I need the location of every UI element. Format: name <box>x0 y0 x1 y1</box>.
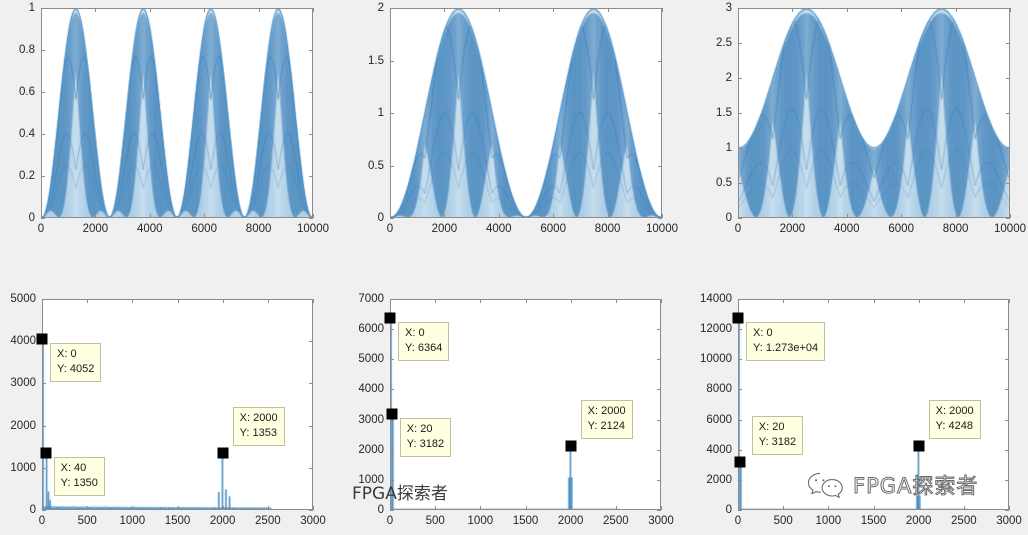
x-tick-label: 10000 <box>297 223 329 235</box>
datatip-box[interactable]: X: 20Y: 3182 <box>400 418 451 457</box>
y-tick-mark <box>390 480 394 481</box>
y-tick-mark <box>1005 480 1009 481</box>
y-tick-label: 0 <box>30 504 36 516</box>
x-tick-label: 4000 <box>486 223 512 235</box>
x-tick-mark <box>874 506 875 510</box>
y-tick-label: 3 <box>726 2 732 14</box>
y-tick-label: 1.5 <box>368 55 384 67</box>
datatip-box[interactable]: X: 0Y: 6364 <box>398 322 449 361</box>
x-tick-mark <box>313 299 314 303</box>
datatip-marker[interactable] <box>40 448 51 459</box>
x-tick-mark <box>204 8 205 12</box>
y-tick-mark <box>1005 420 1009 421</box>
x-tick-mark <box>526 506 527 510</box>
y-tick-mark <box>390 113 394 114</box>
x-tick-label: 2000 <box>558 515 584 527</box>
x-tick-mark <box>661 506 662 510</box>
y-tick-mark <box>41 92 45 93</box>
y-tick-label: 2.5 <box>716 37 732 49</box>
x-tick-mark <box>313 8 314 12</box>
x-tick-mark <box>901 214 902 218</box>
y-tick-mark <box>657 510 661 511</box>
y-tick-mark <box>738 113 742 114</box>
y-tick-mark <box>738 420 742 421</box>
y-tick-label: 2000 <box>10 420 36 432</box>
y-tick-mark <box>738 329 742 330</box>
y-tick-label: 0.5 <box>716 177 732 189</box>
x-tick-label: 1500 <box>861 515 887 527</box>
y-tick-mark <box>738 359 742 360</box>
datatip-y-value: Y: 3182 <box>407 437 444 452</box>
x-tick-mark <box>964 506 965 510</box>
x-tick-label: 1500 <box>513 515 539 527</box>
y-tick-mark <box>657 480 661 481</box>
x-tick-label: 1000 <box>120 515 146 527</box>
y-tick-mark <box>738 43 742 44</box>
x-tick-label: 2500 <box>603 515 629 527</box>
x-tick-mark <box>783 506 784 510</box>
datatip-y-value: Y: 4052 <box>57 362 94 377</box>
datatip-x-value: X: 20 <box>759 420 796 435</box>
y-tick-mark <box>390 420 394 421</box>
x-tick-mark <box>847 8 848 12</box>
y-tick-mark <box>738 510 742 511</box>
y-tick-mark <box>657 389 661 390</box>
x-tick-mark <box>792 214 793 218</box>
y-tick-mark <box>309 218 313 219</box>
x-tick-label: 2500 <box>255 515 281 527</box>
x-tick-label: 0 <box>387 223 393 235</box>
x-tick-label: 1000 <box>816 515 842 527</box>
x-tick-mark <box>738 214 739 218</box>
y-tick-label: 1000 <box>10 462 36 474</box>
y-tick-mark <box>41 134 45 135</box>
datatip-x-value: X: 40 <box>61 461 98 476</box>
waveform-canvas-top-middle <box>391 9 661 217</box>
x-tick-mark <box>919 506 920 510</box>
y-tick-mark <box>390 329 394 330</box>
y-tick-mark <box>41 176 45 177</box>
y-tick-mark <box>390 218 394 219</box>
x-tick-label: 6000 <box>191 223 217 235</box>
y-tick-mark <box>41 50 45 51</box>
x-tick-mark <box>847 214 848 218</box>
x-tick-label: 2000 <box>210 515 236 527</box>
datatip-marker[interactable] <box>734 457 745 468</box>
y-tick-mark <box>1006 183 1010 184</box>
x-tick-mark <box>313 506 314 510</box>
y-tick-mark <box>41 218 45 219</box>
waveform-canvas-top-right <box>739 9 1009 217</box>
y-tick-mark <box>738 389 742 390</box>
datatip-y-value: Y: 4248 <box>936 419 974 434</box>
y-tick-mark <box>657 329 661 330</box>
y-tick-mark <box>658 61 662 62</box>
x-tick-mark <box>132 506 133 510</box>
x-tick-mark <box>480 506 481 510</box>
y-tick-label: 0.2 <box>19 170 35 182</box>
x-tick-mark <box>1010 214 1011 218</box>
y-tick-label: 0 <box>726 212 732 224</box>
x-tick-mark <box>616 506 617 510</box>
x-tick-label: 0 <box>39 515 45 527</box>
x-tick-label: 0 <box>387 515 393 527</box>
datatip-y-value: Y: 6364 <box>405 341 442 356</box>
x-tick-mark <box>919 299 920 303</box>
x-tick-label: 2000 <box>83 223 109 235</box>
x-tick-mark <box>42 506 43 510</box>
y-tick-mark <box>657 450 661 451</box>
y-tick-label: 1000 <box>358 474 384 486</box>
x-tick-mark <box>608 214 609 218</box>
x-tick-mark <box>571 299 572 303</box>
x-tick-mark <box>132 299 133 303</box>
y-tick-mark <box>42 510 46 511</box>
datatip-box[interactable]: X: 40Y: 1350 <box>54 457 105 496</box>
datatip-x-value: X: 0 <box>753 326 818 341</box>
y-tick-mark <box>1005 329 1009 330</box>
x-tick-label: 10000 <box>646 223 678 235</box>
x-tick-mark <box>526 299 527 303</box>
x-tick-label: 500 <box>774 515 793 527</box>
datatip-x-value: X: 2000 <box>936 404 974 419</box>
y-tick-label: 1 <box>29 2 35 14</box>
x-tick-mark <box>87 506 88 510</box>
x-tick-mark <box>87 299 88 303</box>
datatip-box[interactable]: X: 0Y: 1.273e+04 <box>746 322 825 361</box>
y-tick-label: 5000 <box>10 293 36 305</box>
y-tick-label: 5000 <box>358 353 384 365</box>
datatip-box[interactable]: X: 2000Y: 1353 <box>233 407 285 446</box>
subplot-top-left[interactable]: 00.20.40.60.810200040006000800010000 <box>41 8 313 218</box>
y-tick-mark <box>309 50 313 51</box>
x-tick-mark <box>661 299 662 303</box>
y-tick-mark <box>309 383 313 384</box>
x-tick-label: 2000 <box>432 223 458 235</box>
x-tick-mark <box>608 8 609 12</box>
datatip-marker[interactable] <box>217 447 228 458</box>
y-tick-label: 1 <box>378 107 384 119</box>
y-tick-label: 2000 <box>706 474 732 486</box>
datatip-y-value: Y: 1350 <box>61 476 98 491</box>
x-tick-mark <box>964 299 965 303</box>
x-tick-mark <box>223 506 224 510</box>
y-tick-mark <box>309 134 313 135</box>
datatip-box[interactable]: X: 2000Y: 4248 <box>929 400 981 439</box>
x-tick-label: 500 <box>426 515 445 527</box>
y-tick-mark <box>1006 218 1010 219</box>
datatip-x-value: X: 20 <box>407 422 444 437</box>
axes-area-top-right <box>738 8 1010 218</box>
y-tick-label: 10000 <box>700 353 732 365</box>
axes-area-top-left <box>41 8 313 218</box>
x-tick-mark <box>499 8 500 12</box>
x-tick-label: 4000 <box>137 223 163 235</box>
y-tick-label: 0.6 <box>19 86 35 98</box>
datatip-y-value: Y: 1353 <box>240 426 278 441</box>
x-tick-mark <box>738 506 739 510</box>
x-tick-label: 4000 <box>834 223 860 235</box>
datatip-x-value: X: 0 <box>405 326 442 341</box>
x-tick-label: 2000 <box>906 515 932 527</box>
y-tick-label: 0.4 <box>19 128 35 140</box>
x-tick-mark <box>874 299 875 303</box>
x-tick-mark <box>390 506 391 510</box>
x-tick-mark <box>553 8 554 12</box>
subplot-top-middle[interactable]: 00.511.520200040006000800010000 <box>390 8 662 218</box>
datatip-y-value: Y: 1.273e+04 <box>753 341 818 356</box>
x-tick-label: 500 <box>78 515 97 527</box>
x-tick-mark <box>435 506 436 510</box>
x-tick-mark <box>956 214 957 218</box>
x-tick-mark <box>828 299 829 303</box>
datatip-marker[interactable] <box>913 440 924 451</box>
waveform-canvas-top-left <box>42 9 312 217</box>
x-tick-mark <box>390 8 391 12</box>
y-tick-label: 2000 <box>358 444 384 456</box>
y-tick-mark <box>738 148 742 149</box>
x-tick-mark <box>150 8 151 12</box>
y-tick-mark <box>657 359 661 360</box>
y-tick-label: 12000 <box>700 323 732 335</box>
y-tick-label: 0 <box>378 504 384 516</box>
y-tick-label: 4000 <box>10 335 36 347</box>
y-tick-mark <box>658 113 662 114</box>
y-tick-mark <box>390 510 394 511</box>
datatip-y-value: Y: 3182 <box>759 435 796 450</box>
y-tick-mark <box>738 450 742 451</box>
y-tick-label: 7000 <box>358 293 384 305</box>
datatip-x-value: X: 2000 <box>240 411 278 426</box>
y-tick-label: 8000 <box>706 383 732 395</box>
x-tick-mark <box>1009 506 1010 510</box>
y-tick-mark <box>1005 359 1009 360</box>
y-tick-label: 2 <box>726 72 732 84</box>
y-tick-mark <box>1005 389 1009 390</box>
y-tick-mark <box>42 426 46 427</box>
y-tick-mark <box>309 510 313 511</box>
x-tick-mark <box>95 8 96 12</box>
y-tick-mark <box>738 218 742 219</box>
x-tick-label: 6000 <box>888 223 914 235</box>
x-tick-mark <box>444 8 445 12</box>
y-tick-mark <box>1006 43 1010 44</box>
x-tick-mark <box>41 8 42 12</box>
y-tick-mark <box>309 92 313 93</box>
x-tick-mark <box>178 506 179 510</box>
datatip-marker[interactable] <box>37 334 48 345</box>
y-tick-mark <box>1005 450 1009 451</box>
y-tick-label: 3000 <box>358 414 384 426</box>
subplot-top-right[interactable]: 00.511.522.530200040006000800010000 <box>738 8 1010 218</box>
datatip-box[interactable]: X: 20Y: 3182 <box>752 416 803 455</box>
x-tick-mark <box>150 214 151 218</box>
y-tick-mark <box>658 166 662 167</box>
y-tick-mark <box>657 420 661 421</box>
y-tick-label: 4000 <box>358 383 384 395</box>
x-tick-label: 3000 <box>996 515 1022 527</box>
x-tick-mark <box>95 214 96 218</box>
subplot-bottom-left[interactable]: 0100020003000400050000500100015002000250… <box>42 299 313 510</box>
y-tick-mark <box>390 450 394 451</box>
y-tick-mark <box>309 341 313 342</box>
axes-area-top-middle <box>390 8 662 218</box>
x-tick-label: 3000 <box>648 515 674 527</box>
x-tick-mark <box>1010 8 1011 12</box>
x-tick-mark <box>268 506 269 510</box>
x-tick-mark <box>268 299 269 303</box>
x-tick-label: 1000 <box>468 515 494 527</box>
y-tick-mark <box>42 468 46 469</box>
x-tick-mark <box>1009 299 1010 303</box>
y-tick-mark <box>390 359 394 360</box>
x-tick-label: 0 <box>735 223 741 235</box>
y-tick-label: 1 <box>726 142 732 154</box>
x-tick-mark <box>571 506 572 510</box>
x-tick-mark <box>956 8 957 12</box>
y-tick-label: 2 <box>378 2 384 14</box>
y-tick-label: 0 <box>726 504 732 516</box>
y-tick-label: 0 <box>378 212 384 224</box>
y-tick-mark <box>390 389 394 390</box>
datatip-y-value: Y: 2124 <box>588 419 626 434</box>
x-tick-mark <box>662 214 663 218</box>
y-tick-mark <box>1005 510 1009 511</box>
y-tick-mark <box>1006 113 1010 114</box>
x-tick-mark <box>444 214 445 218</box>
y-tick-mark <box>390 166 394 167</box>
x-tick-mark <box>616 299 617 303</box>
x-tick-mark <box>390 214 391 218</box>
datatip-marker[interactable] <box>733 313 744 324</box>
subplot-bottom-middle[interactable]: 0100020003000400050006000700005001000150… <box>390 299 661 510</box>
y-tick-mark <box>309 176 313 177</box>
y-tick-mark <box>390 61 394 62</box>
y-tick-mark <box>658 218 662 219</box>
x-tick-mark <box>178 299 179 303</box>
y-tick-mark <box>738 183 742 184</box>
y-tick-label: 1.5 <box>716 107 732 119</box>
datatip-x-value: X: 0 <box>57 347 94 362</box>
subplot-bottom-right[interactable]: 0200040006000800010000120001400005001000… <box>738 299 1009 510</box>
y-tick-mark <box>1006 78 1010 79</box>
matlab-figure-window: 00.20.40.60.810200040006000800010000 00.… <box>0 0 1028 535</box>
x-tick-label: 8000 <box>943 223 969 235</box>
x-tick-mark <box>42 299 43 303</box>
x-tick-label: 8000 <box>595 223 621 235</box>
y-tick-label: 0.8 <box>19 44 35 56</box>
y-tick-label: 6000 <box>358 323 384 335</box>
x-tick-mark <box>499 214 500 218</box>
datatip-x-value: X: 2000 <box>588 404 626 419</box>
y-tick-mark <box>738 480 742 481</box>
x-tick-mark <box>792 8 793 12</box>
datatip-box[interactable]: X: 0Y: 4052 <box>50 343 101 382</box>
y-tick-mark <box>309 468 313 469</box>
x-tick-mark <box>390 299 391 303</box>
x-tick-label: 8000 <box>246 223 272 235</box>
y-tick-label: 4000 <box>706 444 732 456</box>
datatip-marker[interactable] <box>385 313 396 324</box>
x-tick-label: 2000 <box>780 223 806 235</box>
x-tick-mark <box>223 299 224 303</box>
datatip-marker[interactable] <box>386 409 397 420</box>
y-tick-label: 0.5 <box>368 160 384 172</box>
x-tick-mark <box>313 214 314 218</box>
y-tick-label: 0 <box>29 212 35 224</box>
x-tick-mark <box>41 214 42 218</box>
x-tick-mark <box>259 8 260 12</box>
x-tick-label: 0 <box>38 223 44 235</box>
x-tick-mark <box>259 214 260 218</box>
y-tick-mark <box>42 383 46 384</box>
x-tick-mark <box>662 8 663 12</box>
x-tick-mark <box>738 8 739 12</box>
y-tick-label: 14000 <box>700 293 732 305</box>
y-tick-mark <box>1006 148 1010 149</box>
x-tick-label: 3000 <box>300 515 326 527</box>
x-tick-label: 0 <box>735 515 741 527</box>
x-tick-label: 6000 <box>540 223 566 235</box>
datatip-marker[interactable] <box>565 440 576 451</box>
x-tick-mark <box>738 299 739 303</box>
x-tick-mark <box>480 299 481 303</box>
x-tick-label: 10000 <box>994 223 1026 235</box>
datatip-box[interactable]: X: 2000Y: 2124 <box>581 400 633 439</box>
x-tick-mark <box>783 299 784 303</box>
x-tick-label: 1500 <box>165 515 191 527</box>
x-tick-mark <box>553 214 554 218</box>
x-tick-mark <box>901 8 902 12</box>
y-tick-mark <box>309 426 313 427</box>
x-tick-mark <box>828 506 829 510</box>
y-tick-label: 3000 <box>10 377 36 389</box>
x-tick-label: 2500 <box>951 515 977 527</box>
y-tick-mark <box>738 78 742 79</box>
x-tick-mark <box>435 299 436 303</box>
x-tick-mark <box>204 214 205 218</box>
y-tick-label: 6000 <box>706 414 732 426</box>
